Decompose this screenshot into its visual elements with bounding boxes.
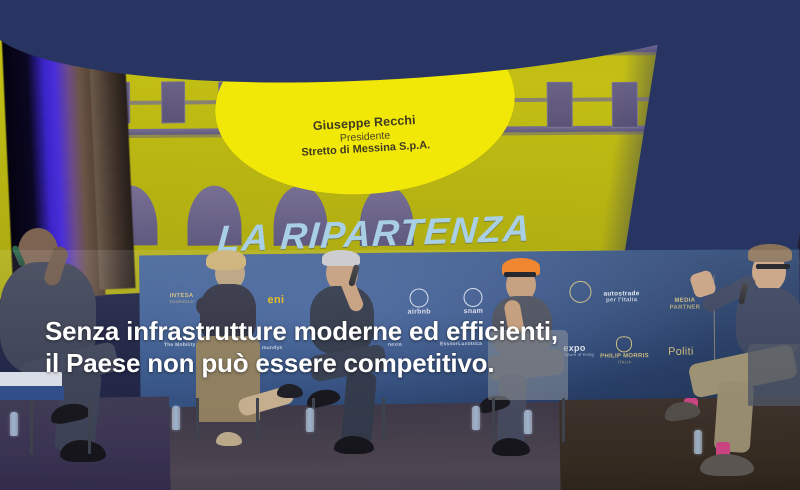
sponsor-logo-intesa: INTESA SNNPAOLO [169,293,193,305]
water-bottle [524,410,532,434]
shoe [277,384,303,398]
table-leg [30,400,33,454]
chair-leg [562,398,565,442]
sponsor-logo-unknown-ring [569,281,591,304]
water-bottle [472,406,480,430]
sponsor-logo-eni: eni [267,294,284,307]
chair-leg [256,398,259,440]
chair-leg [382,398,385,440]
snam-icon [464,288,483,307]
crest-icon [616,336,632,352]
hair [322,250,360,266]
laurel-ring-icon [569,281,591,303]
hair [748,244,792,262]
water-bottle [694,430,702,454]
glasses [504,272,536,277]
caption-line-1: Senza infrastrutture moderne ed efficien… [45,316,558,346]
water-bottle [10,412,18,436]
sponsor-logo-autostrade: autostrade per l'Italia [603,290,639,305]
hair [206,250,246,270]
sponsor-logo-il-politico: Politi [668,346,694,359]
chair-leg [196,398,199,440]
shoe [216,432,242,446]
lounge-chair [748,344,800,406]
caption-overlay: Senza infrastrutture moderne ed efficien… [45,316,585,379]
sponsor-logo-snam: snam [463,288,483,316]
airbnb-icon [410,288,429,307]
chair-leg [492,398,495,442]
media-partner-label: MEDIA PARTNER [670,298,701,312]
sponsor-logo-airbnb: airbnb [407,288,430,316]
sponsor-logo-philip-morris: PHILIP MORRIS ITALIA [600,336,649,365]
screenshot-root: Giuseppe Recchi Presidente Stretto di Me… [0,0,800,490]
caption-line-2: il Paese non può essere competitivo. [45,348,585,380]
water-bottle [306,408,314,432]
glasses [756,264,790,269]
water-bottle [172,406,180,430]
book [0,386,64,400]
table-leg [88,400,91,454]
